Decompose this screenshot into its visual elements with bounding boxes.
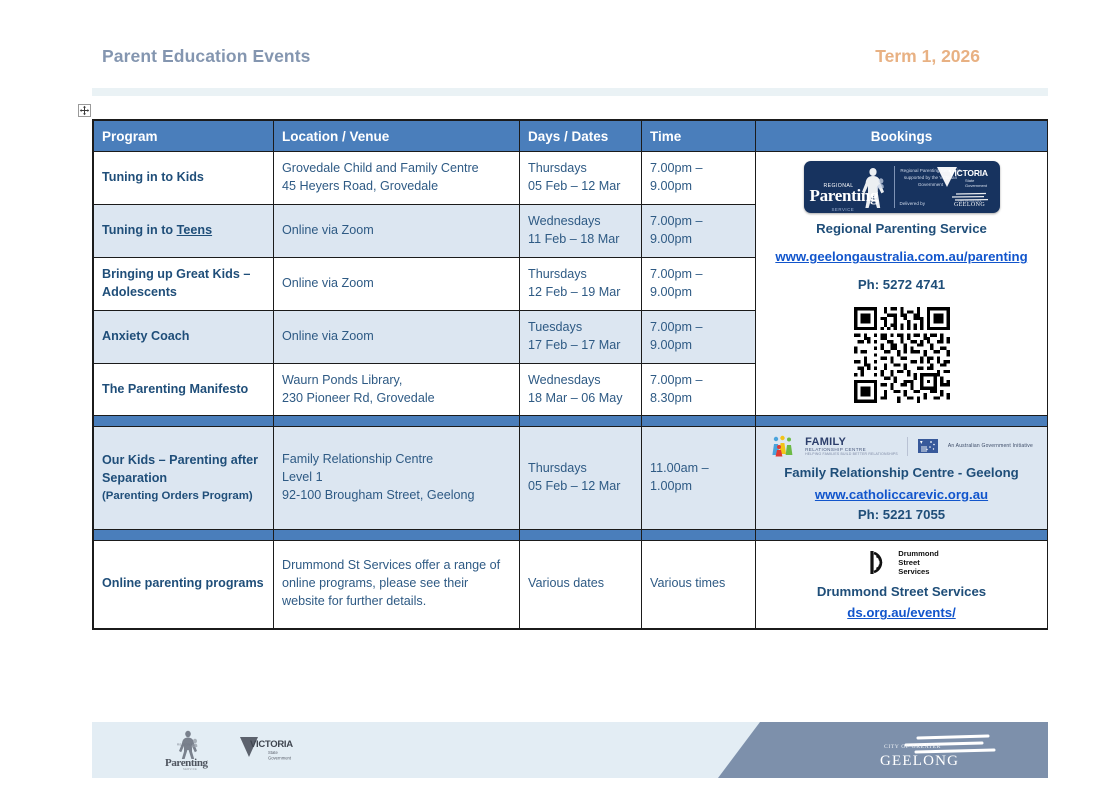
- program-name: Our Kids – Parenting after Separation: [102, 452, 265, 488]
- program-name: Online parenting programs: [102, 576, 264, 590]
- frc-logo-tagline: HELPING FAMILIES BUILD BETTER RELATIONSH…: [805, 453, 898, 457]
- svg-text:GEELONG: GEELONG: [954, 202, 985, 208]
- location-line: 230 Pioneer Rd, Grovedale: [282, 390, 511, 408]
- column-header-bookings: Bookings: [756, 121, 1048, 152]
- cell-days: Thursdays 05 Feb – 12 Mar: [520, 427, 642, 529]
- booking-org-name: Family Relationship Centre - Geelong: [764, 464, 1039, 481]
- cell-days: Thursdays 12 Feb – 19 Mar: [520, 257, 642, 310]
- svg-text:REGIONAL: REGIONAL: [177, 743, 195, 747]
- days-line: Thursdays: [528, 266, 633, 284]
- separator-cell: [94, 416, 274, 427]
- time-line: 8.30pm: [650, 390, 747, 408]
- dates-line: 12 Feb – 19 Mar: [528, 284, 633, 302]
- cell-bookings-dss: Drummond Street Services Drummond Street…: [756, 540, 1048, 628]
- frc-logo-text: FAMILY RELATIONSHIP CENTRE HELPING FAMIL…: [805, 437, 898, 457]
- cell-time: 7.00pm – 9.00pm: [642, 310, 756, 363]
- days-line: Wednesdays: [528, 372, 633, 390]
- cell-location: Online via Zoom: [274, 204, 520, 257]
- header-divider: [92, 88, 1048, 96]
- cell-time: 7.00pm – 9.00pm: [642, 204, 756, 257]
- city-of-greater-geelong-logo: CITY OF GREATER GEELONG: [846, 734, 996, 768]
- logo-parenting-text: Parenting: [810, 186, 879, 206]
- table-separator-row: [94, 529, 1048, 540]
- dss-logo-line: Services: [898, 567, 939, 576]
- column-header-time: Time: [642, 121, 756, 152]
- program-subtitle: (Parenting Orders Program): [102, 488, 265, 504]
- document-header: Parent Education Events Term 1, 2026: [92, 42, 1048, 80]
- cell-time: Various times: [642, 540, 756, 628]
- cell-location: Online via Zoom: [274, 257, 520, 310]
- location-line: website for further details.: [282, 593, 511, 611]
- logo-delivered-by: Delivered by: [900, 201, 926, 206]
- term-label: Term 1, 2026: [875, 46, 980, 67]
- dates-line: 11 Feb – 18 Mar: [528, 231, 633, 249]
- australian-government-crest-icon: [917, 437, 939, 455]
- victoria-state-government-logo: VICTORIA State Government: [238, 733, 302, 765]
- family-relationship-centre-logo: FAMILY RELATIONSHIP CENTRE HELPING FAMIL…: [764, 435, 1039, 457]
- table-separator-row: [94, 416, 1048, 427]
- program-name: Bringing up Great Kids – Adolescents: [102, 267, 250, 299]
- booking-qr-code[interactable]: [854, 307, 950, 403]
- cell-program: Our Kids – Parenting after Separation (P…: [94, 427, 274, 529]
- dates-line: 17 Feb – 17 Mar: [528, 337, 633, 355]
- cell-days: Various dates: [520, 540, 642, 628]
- separator-cell: [274, 416, 520, 427]
- booking-url-link[interactable]: ds.org.au/events/: [764, 604, 1039, 621]
- svg-text:GEELONG: GEELONG: [880, 753, 959, 768]
- column-header-location: Location / Venue: [274, 121, 520, 152]
- program-name: Tuning in to Kids: [102, 170, 204, 184]
- days-line: Tuesdays: [528, 319, 633, 337]
- cell-location: Waurn Ponds Library, 230 Pioneer Rd, Gro…: [274, 363, 520, 416]
- time-line: 7.00pm –: [650, 213, 747, 231]
- location-line: Online via Zoom: [282, 222, 511, 240]
- program-name: The Parenting Manifesto: [102, 382, 248, 396]
- location-line: Online via Zoom: [282, 328, 511, 346]
- cell-program: Online parenting programs: [94, 540, 274, 628]
- separator-cell: [756, 529, 1048, 540]
- cell-time: 7.00pm – 9.00pm: [642, 257, 756, 310]
- cell-days: Wednesdays 11 Feb – 18 Mar: [520, 204, 642, 257]
- cell-days: Thursdays 05 Feb – 12 Mar: [520, 152, 642, 205]
- separator-cell: [642, 529, 756, 540]
- cell-time: 11.00am – 1.00pm: [642, 427, 756, 529]
- cell-location: Drummond St Services offer a range of on…: [274, 540, 520, 628]
- cell-time: 7.00pm – 8.30pm: [642, 363, 756, 416]
- location-line: Online via Zoom: [282, 275, 511, 293]
- days-line: Wednesdays: [528, 213, 633, 231]
- booking-url-link[interactable]: www.catholiccarevic.org.au: [764, 486, 1039, 503]
- program-name-link[interactable]: Teens: [177, 223, 212, 237]
- footer-banner: REGIONAL Parenting SERVICE VICTORIA Stat…: [92, 722, 1048, 778]
- cell-days: Wednesdays 18 Mar – 06 May: [520, 363, 642, 416]
- cell-time: 7.00pm – 9.00pm: [642, 152, 756, 205]
- time-line: Various times: [650, 575, 747, 593]
- svg-text:VICTORIA: VICTORIA: [949, 168, 988, 178]
- time-line: 9.00pm: [650, 231, 747, 249]
- frc-gov-initiative: An Australian Government Initiative: [948, 443, 1033, 449]
- qr-code-icon: [854, 307, 950, 403]
- table-row: Tuning in to Kids Grovedale Child and Fa…: [94, 152, 1048, 205]
- location-line: Drummond St Services offer a range of: [282, 557, 511, 575]
- booking-phone: Ph: 5221 7055: [764, 506, 1039, 523]
- table-header-row: Program Location / Venue Days / Dates Ti…: [94, 121, 1048, 152]
- program-name: Tuning in to: [102, 223, 177, 237]
- location-line: Family Relationship Centre: [282, 451, 511, 469]
- cell-days: Tuesdays 17 Feb – 17 Mar: [520, 310, 642, 363]
- location-line: Level 1: [282, 469, 511, 487]
- regional-parenting-service-logo: REGIONAL Parenting SERVICE Regional Pare…: [804, 161, 1000, 213]
- logo-divider: [894, 166, 895, 208]
- days-line: Various dates: [528, 575, 633, 593]
- cell-program: Anxiety Coach: [94, 310, 274, 363]
- svg-text:CITY OF GREATER: CITY OF GREATER: [884, 744, 941, 750]
- days-line: Thursdays: [528, 160, 633, 178]
- location-line: online programs, please see their: [282, 575, 511, 593]
- time-line: 7.00pm –: [650, 266, 747, 284]
- cell-bookings-frc: FAMILY RELATIONSHIP CENTRE HELPING FAMIL…: [756, 427, 1048, 529]
- location-line: Grovedale Child and Family Centre: [282, 160, 511, 178]
- table-move-handle[interactable]: [78, 104, 91, 117]
- city-of-greater-geelong-icon: GEELONG CITY OF GREATER: [936, 192, 992, 208]
- separator-cell: [94, 529, 274, 540]
- table-header: Program Location / Venue Days / Dates Ti…: [94, 121, 1048, 152]
- time-line: 7.00pm –: [650, 372, 747, 390]
- separator-cell: [642, 416, 756, 427]
- svg-text:Government: Government: [268, 756, 292, 761]
- regional-parenting-service-logo: REGIONAL Parenting SERVICE: [164, 729, 212, 771]
- svg-text:CITY OF GREATER: CITY OF GREATER: [958, 200, 982, 203]
- separator-cell: [274, 529, 520, 540]
- dates-line: 05 Feb – 12 Mar: [528, 478, 633, 496]
- time-line: 9.00pm: [650, 178, 747, 196]
- time-line: 9.00pm: [650, 337, 747, 355]
- dates-line: 05 Feb – 12 Mar: [528, 178, 633, 196]
- events-table: Program Location / Venue Days / Dates Ti…: [93, 120, 1048, 629]
- program-name: Anxiety Coach: [102, 329, 189, 343]
- dss-logo-line: Drummond: [898, 549, 939, 558]
- drummond-street-services-logo: Drummond Street Services: [764, 549, 1039, 576]
- svg-text:SERVICE: SERVICE: [183, 767, 197, 771]
- column-header-program: Program: [94, 121, 274, 152]
- victoria-state-government-icon: VICTORIA State Government: [935, 165, 993, 191]
- family-people-icon: [770, 435, 796, 457]
- table-body: Tuning in to Kids Grovedale Child and Fa…: [94, 152, 1048, 629]
- cell-location: Online via Zoom: [274, 310, 520, 363]
- move-cross-icon: [79, 105, 90, 116]
- booking-phone: Ph: 5272 4741: [764, 276, 1039, 293]
- booking-url-link[interactable]: www.geelongaustralia.com.au/parenting: [764, 248, 1039, 265]
- time-line: 7.00pm –: [650, 160, 747, 178]
- document-page: Parent Education Events Term 1, 2026 Pro…: [0, 0, 1119, 789]
- location-line: 45 Heyers Road, Grovedale: [282, 178, 511, 196]
- separator-cell: [756, 416, 1048, 427]
- column-header-days: Days / Dates: [520, 121, 642, 152]
- booking-org-name: Regional Parenting Service: [764, 220, 1039, 237]
- time-line: 11.00am –: [650, 460, 747, 478]
- cell-location: Family Relationship Centre Level 1 92-10…: [274, 427, 520, 529]
- separator-cell: [520, 416, 642, 427]
- cell-location: Grovedale Child and Family Centre 45 Hey…: [274, 152, 520, 205]
- svg-text:Government: Government: [965, 183, 988, 188]
- page-title: Parent Education Events: [102, 46, 310, 67]
- soundwave-icon: [864, 549, 891, 576]
- dates-line: 18 Mar – 06 May: [528, 390, 633, 408]
- table-row: Online parenting programs Drummond St Se…: [94, 540, 1048, 628]
- logo-service-text: SERVICE: [832, 207, 855, 212]
- cell-program: Tuning in to Teens: [94, 204, 274, 257]
- dss-logo-line: Street: [898, 558, 939, 567]
- svg-text:VICTORIA: VICTORIA: [250, 739, 293, 750]
- cell-program: Tuning in to Kids: [94, 152, 274, 205]
- logo-divider: [907, 437, 908, 456]
- location-line: 92-100 Brougham Street, Geelong: [282, 487, 511, 505]
- svg-text:State: State: [268, 750, 278, 755]
- dss-logo-text: Drummond Street Services: [898, 549, 939, 576]
- cell-bookings-rps: REGIONAL Parenting SERVICE Regional Pare…: [756, 152, 1048, 416]
- cell-program: Bringing up Great Kids – Adolescents: [94, 257, 274, 310]
- booking-org-name: Drummond Street Services: [764, 583, 1039, 600]
- cell-program: The Parenting Manifesto: [94, 363, 274, 416]
- time-line: 7.00pm –: [650, 319, 747, 337]
- separator-cell: [520, 529, 642, 540]
- time-line: 9.00pm: [650, 284, 747, 302]
- table-row: Our Kids – Parenting after Separation (P…: [94, 427, 1048, 529]
- location-line: Waurn Ponds Library,: [282, 372, 511, 390]
- time-line: 1.00pm: [650, 478, 747, 496]
- days-line: Thursdays: [528, 460, 633, 478]
- events-table-wrapper: Program Location / Venue Days / Dates Ti…: [92, 119, 1048, 630]
